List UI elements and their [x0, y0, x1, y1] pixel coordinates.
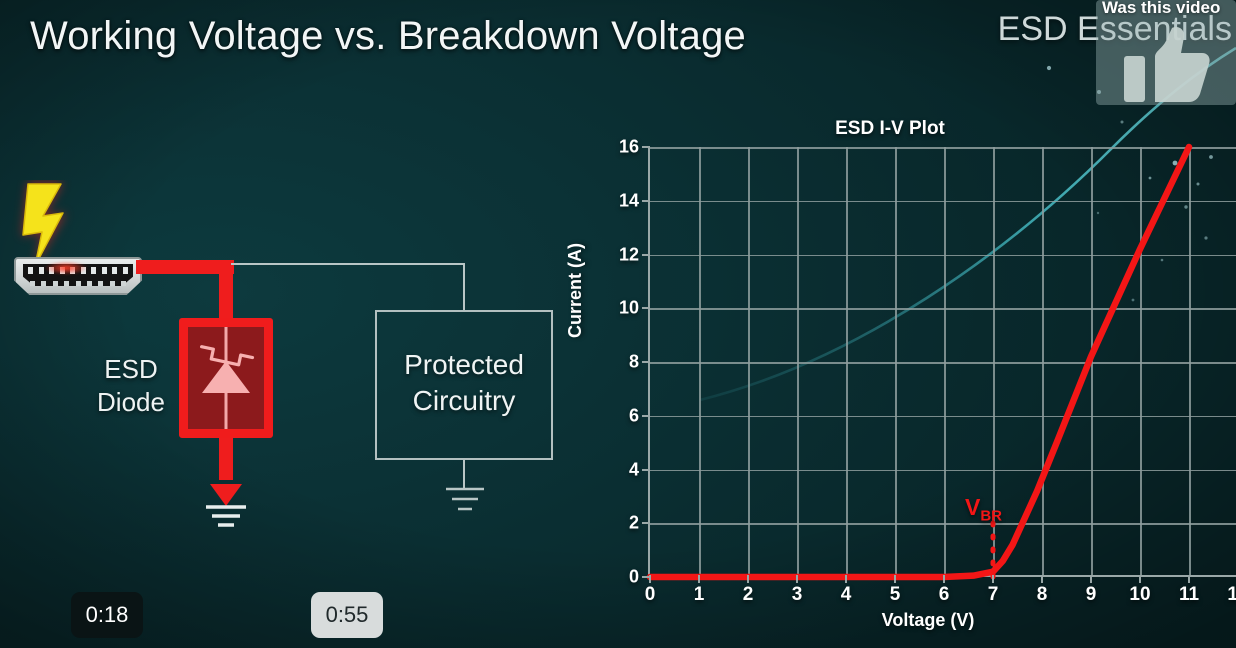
like-prompt-overlay[interactable]: Was this video [1096, 0, 1236, 105]
chart-y-tick: 8 [629, 352, 639, 373]
video-frame: Working Voltage vs. Breakdown Voltage ES… [0, 0, 1236, 648]
like-prompt-text: Was this video [1102, 0, 1236, 18]
chart-y-tick: 4 [629, 459, 639, 480]
tvs-zener-diode-icon [188, 327, 264, 429]
chart-x-tickmark [796, 575, 798, 583]
esd-diode-component[interactable] [179, 318, 273, 438]
esd-diode-label: ESD Diode [88, 353, 174, 419]
chart-y-tick: 10 [619, 298, 639, 319]
vbr-label-text: V [965, 494, 980, 520]
chart-y-tickmark [642, 254, 650, 256]
chart-x-tick: 5 [890, 584, 901, 606]
signal-wire-horizontal [231, 263, 465, 265]
chart-x-tick: 8 [1037, 584, 1048, 606]
esd-iv-chart: ESD I-V Plot Current (A) Voltage (V) VBR… [580, 110, 1236, 648]
circuit-diagram: ESD Diode Protected Circuitry [0, 175, 600, 535]
chart-x-tickmark [747, 575, 749, 583]
chart-x-tick: 1 [694, 584, 705, 606]
chart-y-tickmark [642, 200, 650, 202]
chart-x-tick: 6 [939, 584, 950, 606]
chart-x-tick: 11 [1179, 584, 1199, 606]
signal-wire-vertical [463, 263, 465, 311]
chart-y-tickmark [642, 415, 650, 417]
chart-x-tickmark [1139, 575, 1141, 583]
ground-symbol-icon [200, 470, 252, 530]
chart-x-tick: 12 [1227, 584, 1236, 606]
chart-y-tickmark [642, 307, 650, 309]
chart-x-tick: 9 [1086, 584, 1097, 606]
chart-x-tickmark [1188, 575, 1190, 583]
chart-x-axis-label: Voltage (V) [648, 610, 1208, 631]
breakdown-voltage-annotation: VBR [965, 494, 1002, 525]
esd-diode-label-line2: Diode [88, 386, 174, 419]
chart-y-tickmark [642, 522, 650, 524]
chart-x-tick: 0 [645, 584, 656, 606]
chart-x-tickmark [698, 575, 700, 583]
chart-y-tick: 0 [629, 567, 639, 588]
thumbs-up-icon[interactable] [1124, 26, 1210, 102]
chart-x-tick: 4 [841, 584, 852, 606]
page-title: Working Voltage vs. Breakdown Voltage [30, 14, 746, 59]
chart-x-tickmark [1041, 575, 1043, 583]
chart-series-layer [650, 147, 1236, 577]
chart-x-tickmark [894, 575, 896, 583]
chart-y-tickmark [642, 146, 650, 148]
chart-y-tick: 2 [629, 513, 639, 534]
chart-x-tickmark [649, 575, 651, 583]
esd-diode-label-line1: ESD [88, 353, 174, 386]
chart-x-tick: 3 [792, 584, 803, 606]
protected-circuitry-label: Protected Circuitry [375, 347, 553, 420]
chart-x-tick: 7 [988, 584, 999, 606]
timestamp-current[interactable]: 0:18 [71, 592, 143, 638]
chart-x-tickmark [845, 575, 847, 583]
protected-label-line1: Protected [375, 347, 553, 383]
hdmi-connector-icon [14, 257, 142, 295]
ground-symbol-icon-2 [444, 485, 486, 519]
chart-y-axis-label: Current (A) [565, 243, 586, 338]
chart-x-tickmark [943, 575, 945, 583]
chart-y-tick: 6 [629, 405, 639, 426]
chart-x-tick: 2 [743, 584, 754, 606]
chart-x-tick: 10 [1129, 584, 1150, 606]
chart-x-tickmark [992, 575, 994, 583]
timestamp-total[interactable]: 0:55 [311, 592, 383, 638]
chart-y-tick: 14 [619, 190, 639, 211]
chart-plot-area: VBR 02468101214160123456789101112 [648, 147, 1236, 577]
chart-y-tickmark [642, 361, 650, 363]
chart-title: ESD I-V Plot [580, 118, 1200, 140]
chart-y-tick: 12 [619, 244, 639, 265]
chart-y-tickmark [642, 469, 650, 471]
protected-ground-wire [463, 460, 465, 488]
chart-series-line [650, 147, 1189, 577]
chart-x-tickmark [1090, 575, 1092, 583]
protected-label-line2: Circuitry [375, 383, 553, 419]
vbr-label-subscript: BR [980, 507, 1002, 524]
chart-y-tick: 16 [619, 137, 639, 158]
